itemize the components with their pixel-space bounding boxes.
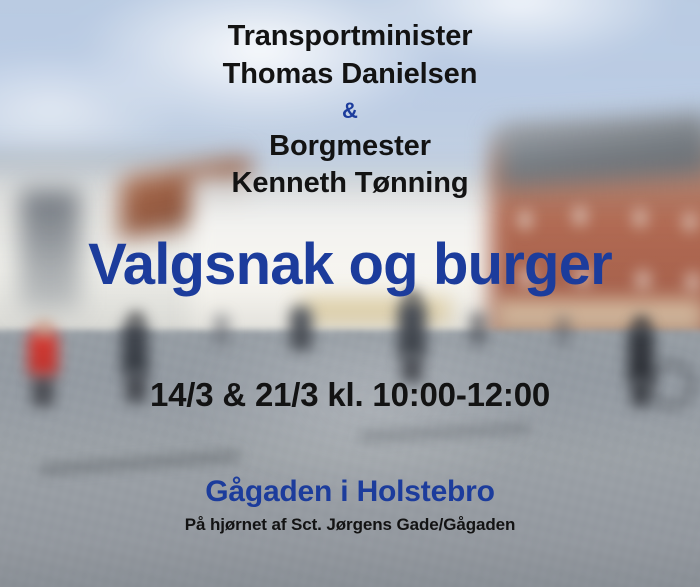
event-poster: Transportminister Thomas Danielsen & Bor…: [0, 0, 700, 587]
poster-headline: Valgsnak og burger: [0, 236, 700, 294]
event-venue-name: Gågaden i Holstebro: [0, 477, 700, 507]
event-datetime: 14/3 & 21/3 kl. 10:00-12:00: [0, 378, 700, 411]
event-venue-detail: På hjørnet af Sct. Jørgens Gade/Gågaden: [0, 516, 700, 533]
speaker-name-minister: Thomas Danielsen: [0, 60, 700, 89]
speaker-role-mayor: Borgmester: [0, 132, 700, 161]
speaker-name-mayor: Kenneth Tønning: [0, 169, 700, 198]
speaker-role-minister: Transportminister: [0, 22, 700, 51]
poster-content: Transportminister Thomas Danielsen & Bor…: [0, 0, 700, 587]
speaker-conjunction: &: [0, 100, 700, 122]
